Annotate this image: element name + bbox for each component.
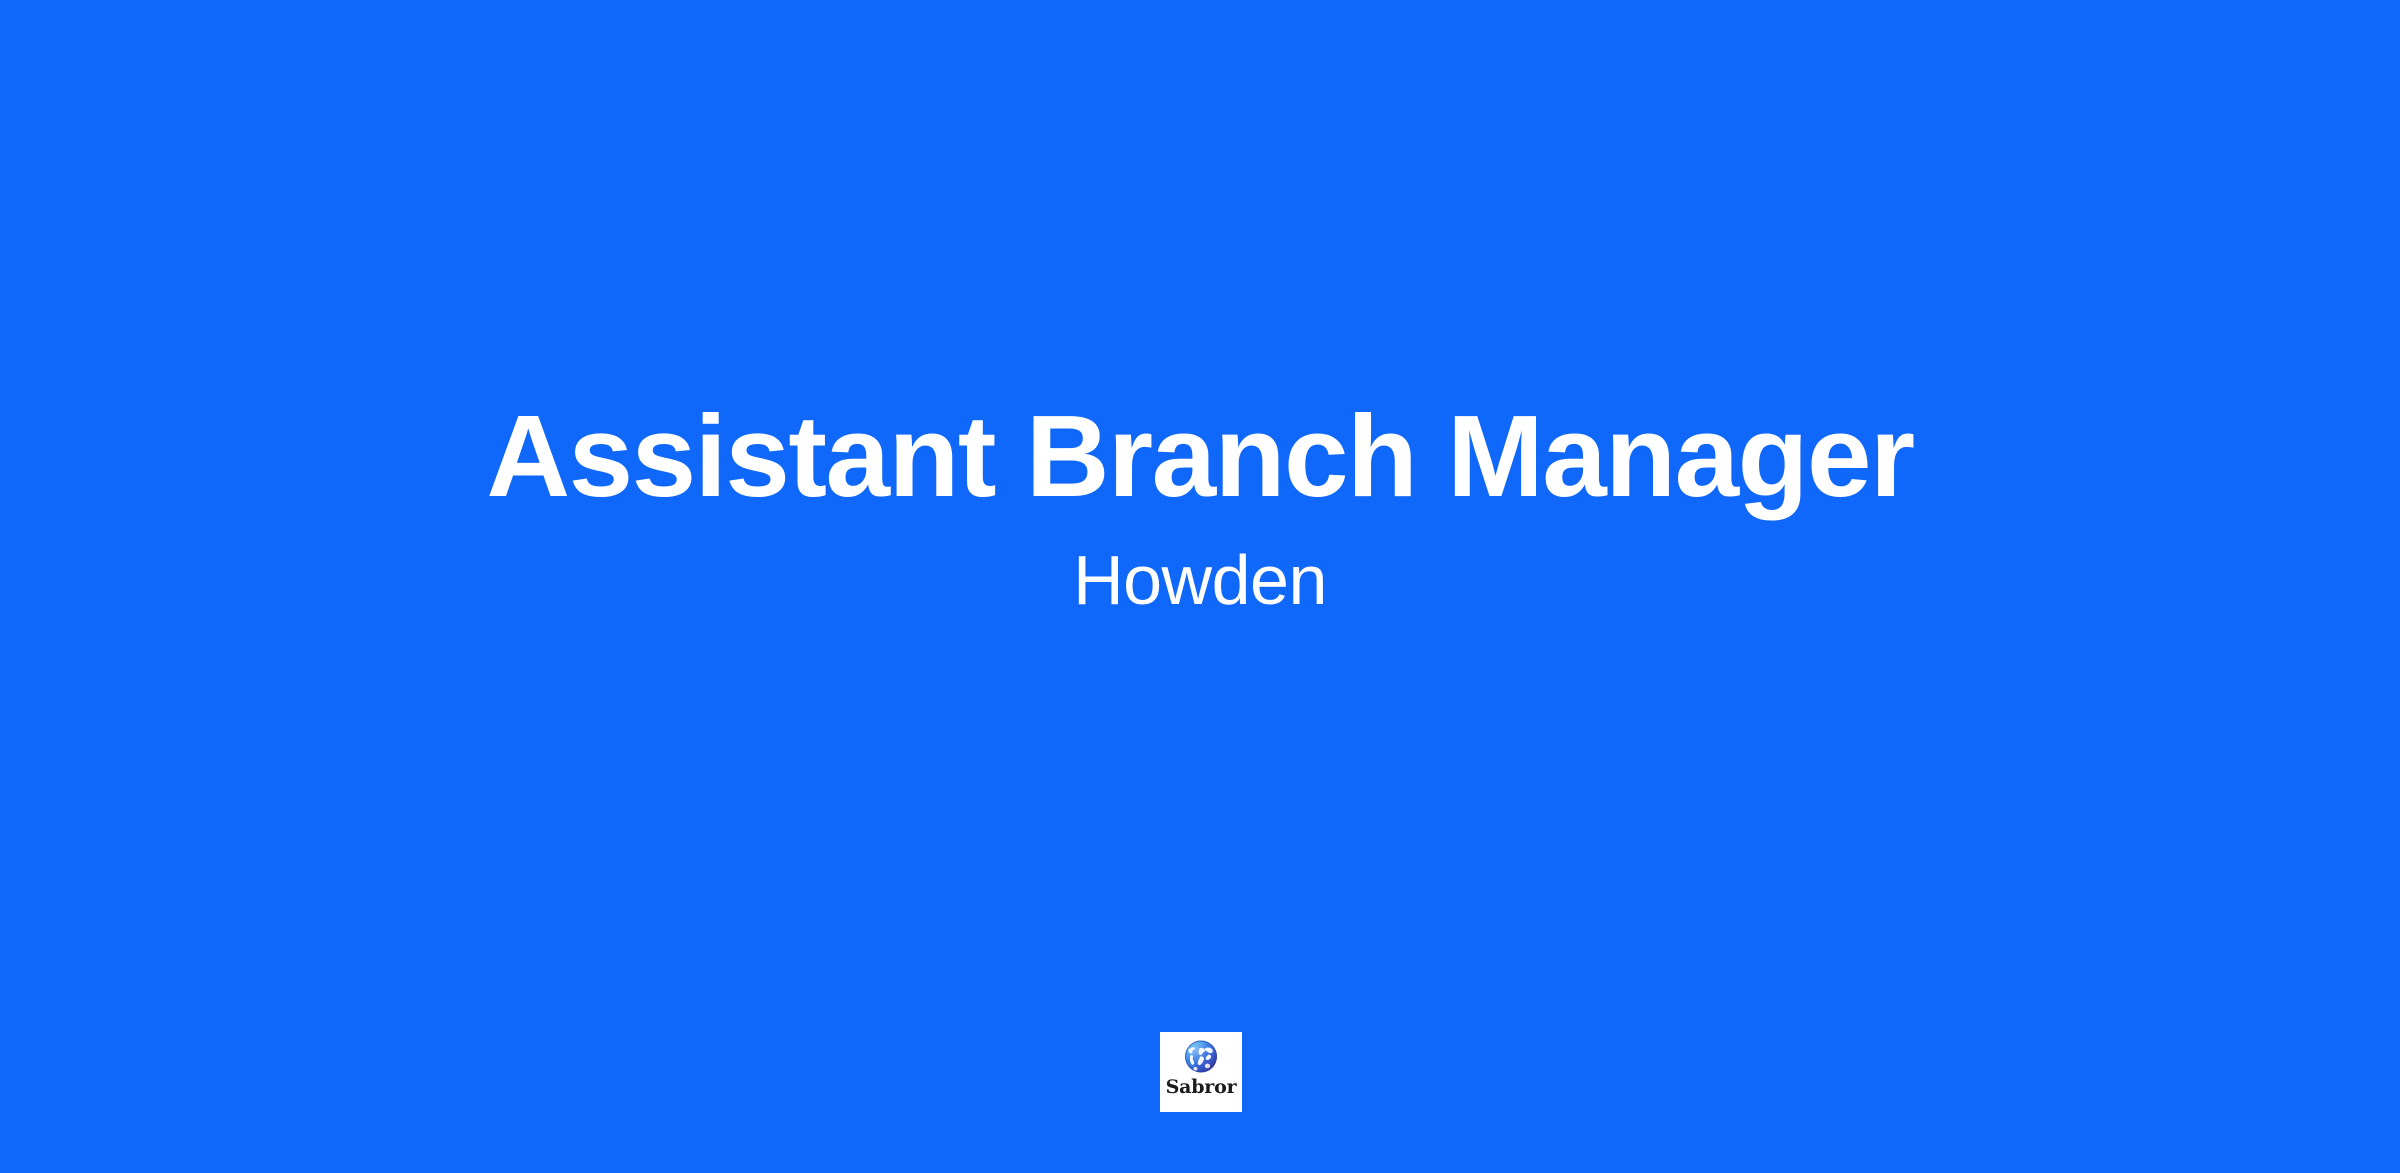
job-posting-hero: Assistant Branch Manager Howden: [0, 0, 2400, 1173]
page-title: Assistant Branch Manager: [0, 398, 2400, 514]
globe-icon: [1181, 1037, 1221, 1077]
logo-wordmark: Sabror: [1166, 1078, 1237, 1097]
company-logo: Sabror: [1160, 1032, 1242, 1112]
job-location: Howden: [0, 545, 2400, 615]
